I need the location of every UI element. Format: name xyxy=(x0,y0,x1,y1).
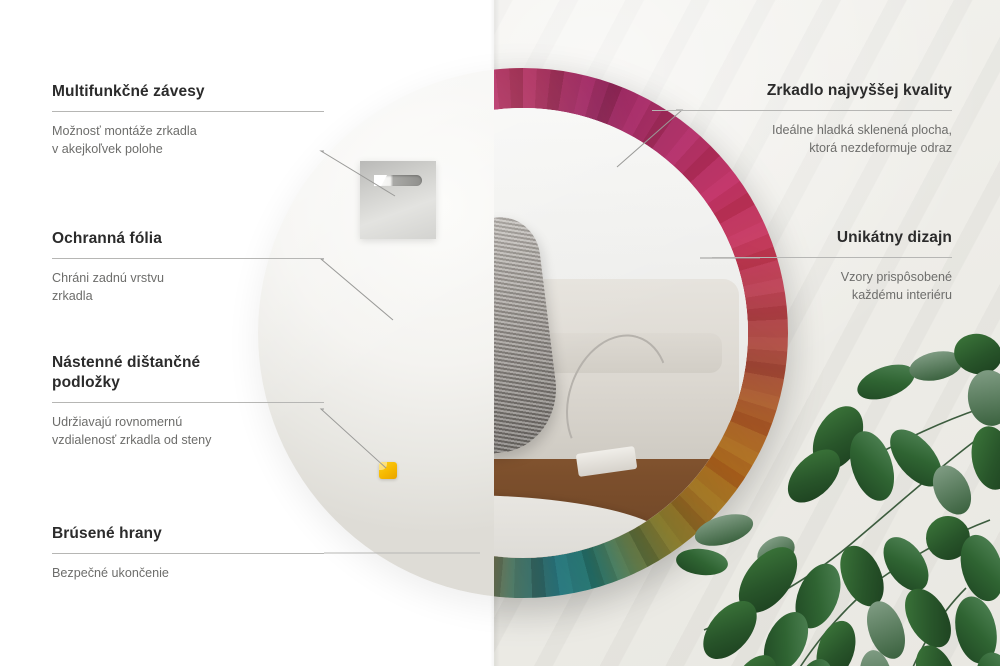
callout-rule xyxy=(52,258,324,259)
callout-multifunkcne-zavesy: Multifunkčné závesy Možnosť montáže zrka… xyxy=(52,82,324,159)
callout-unikatny-dizajn: Unikátny dizajn Vzory prispôsobené každé… xyxy=(712,228,952,305)
callout-description: Bezpečné ukončenie xyxy=(52,564,324,582)
multifunction-hanger-plate xyxy=(360,161,436,239)
callout-rule xyxy=(52,111,324,112)
callout-description: Ideálne hladká sklenená plocha, ktorá ne… xyxy=(652,121,952,158)
callout-description: Vzory prispôsobené každému interiéru xyxy=(712,268,952,305)
callout-rule xyxy=(52,553,324,554)
callout-ochranna-folia: Ochranná fólia Chráni zadnú vrstvu zrkad… xyxy=(52,229,324,306)
callout-rule xyxy=(52,402,324,403)
infographic-canvas: Multifunkčné závesy Možnosť montáže zrka… xyxy=(0,0,1000,666)
callout-rule xyxy=(712,257,952,258)
mirror-glass xyxy=(494,108,748,558)
callout-title: Ochranná fólia xyxy=(52,229,324,249)
callout-title: Zrkadlo najvyššej kvality xyxy=(652,81,952,101)
callout-description: Možnosť montáže zrkadla v akejkoľvek pol… xyxy=(52,122,324,159)
callout-title: Multifunkčné závesy xyxy=(52,82,324,102)
callout-nastenne-distancne-podlozky: Nástenné dištančné podložky Udržiavajú r… xyxy=(52,353,324,449)
callout-title: Brúsené hrany xyxy=(52,524,324,544)
callout-description: Chráni zadnú vrstvu zrkadla xyxy=(52,269,324,306)
callout-rule xyxy=(652,110,952,111)
callout-title: Unikátny dizajn xyxy=(712,228,952,248)
wall-distance-spacer-pad xyxy=(379,462,397,479)
callout-description: Udržiavajú rovnomernú vzdialenosť zrkadl… xyxy=(52,413,324,450)
spacer-highlight xyxy=(379,462,387,470)
callout-zrkadlo-najvyssej-kvality: Zrkadlo najvyššej kvality Ideálne hladká… xyxy=(652,81,952,158)
callout-brusene-hrany: Brúsené hrany Bezpečné ukončenie xyxy=(52,524,324,582)
callout-title: Nástenné dištančné podložky xyxy=(52,353,324,393)
